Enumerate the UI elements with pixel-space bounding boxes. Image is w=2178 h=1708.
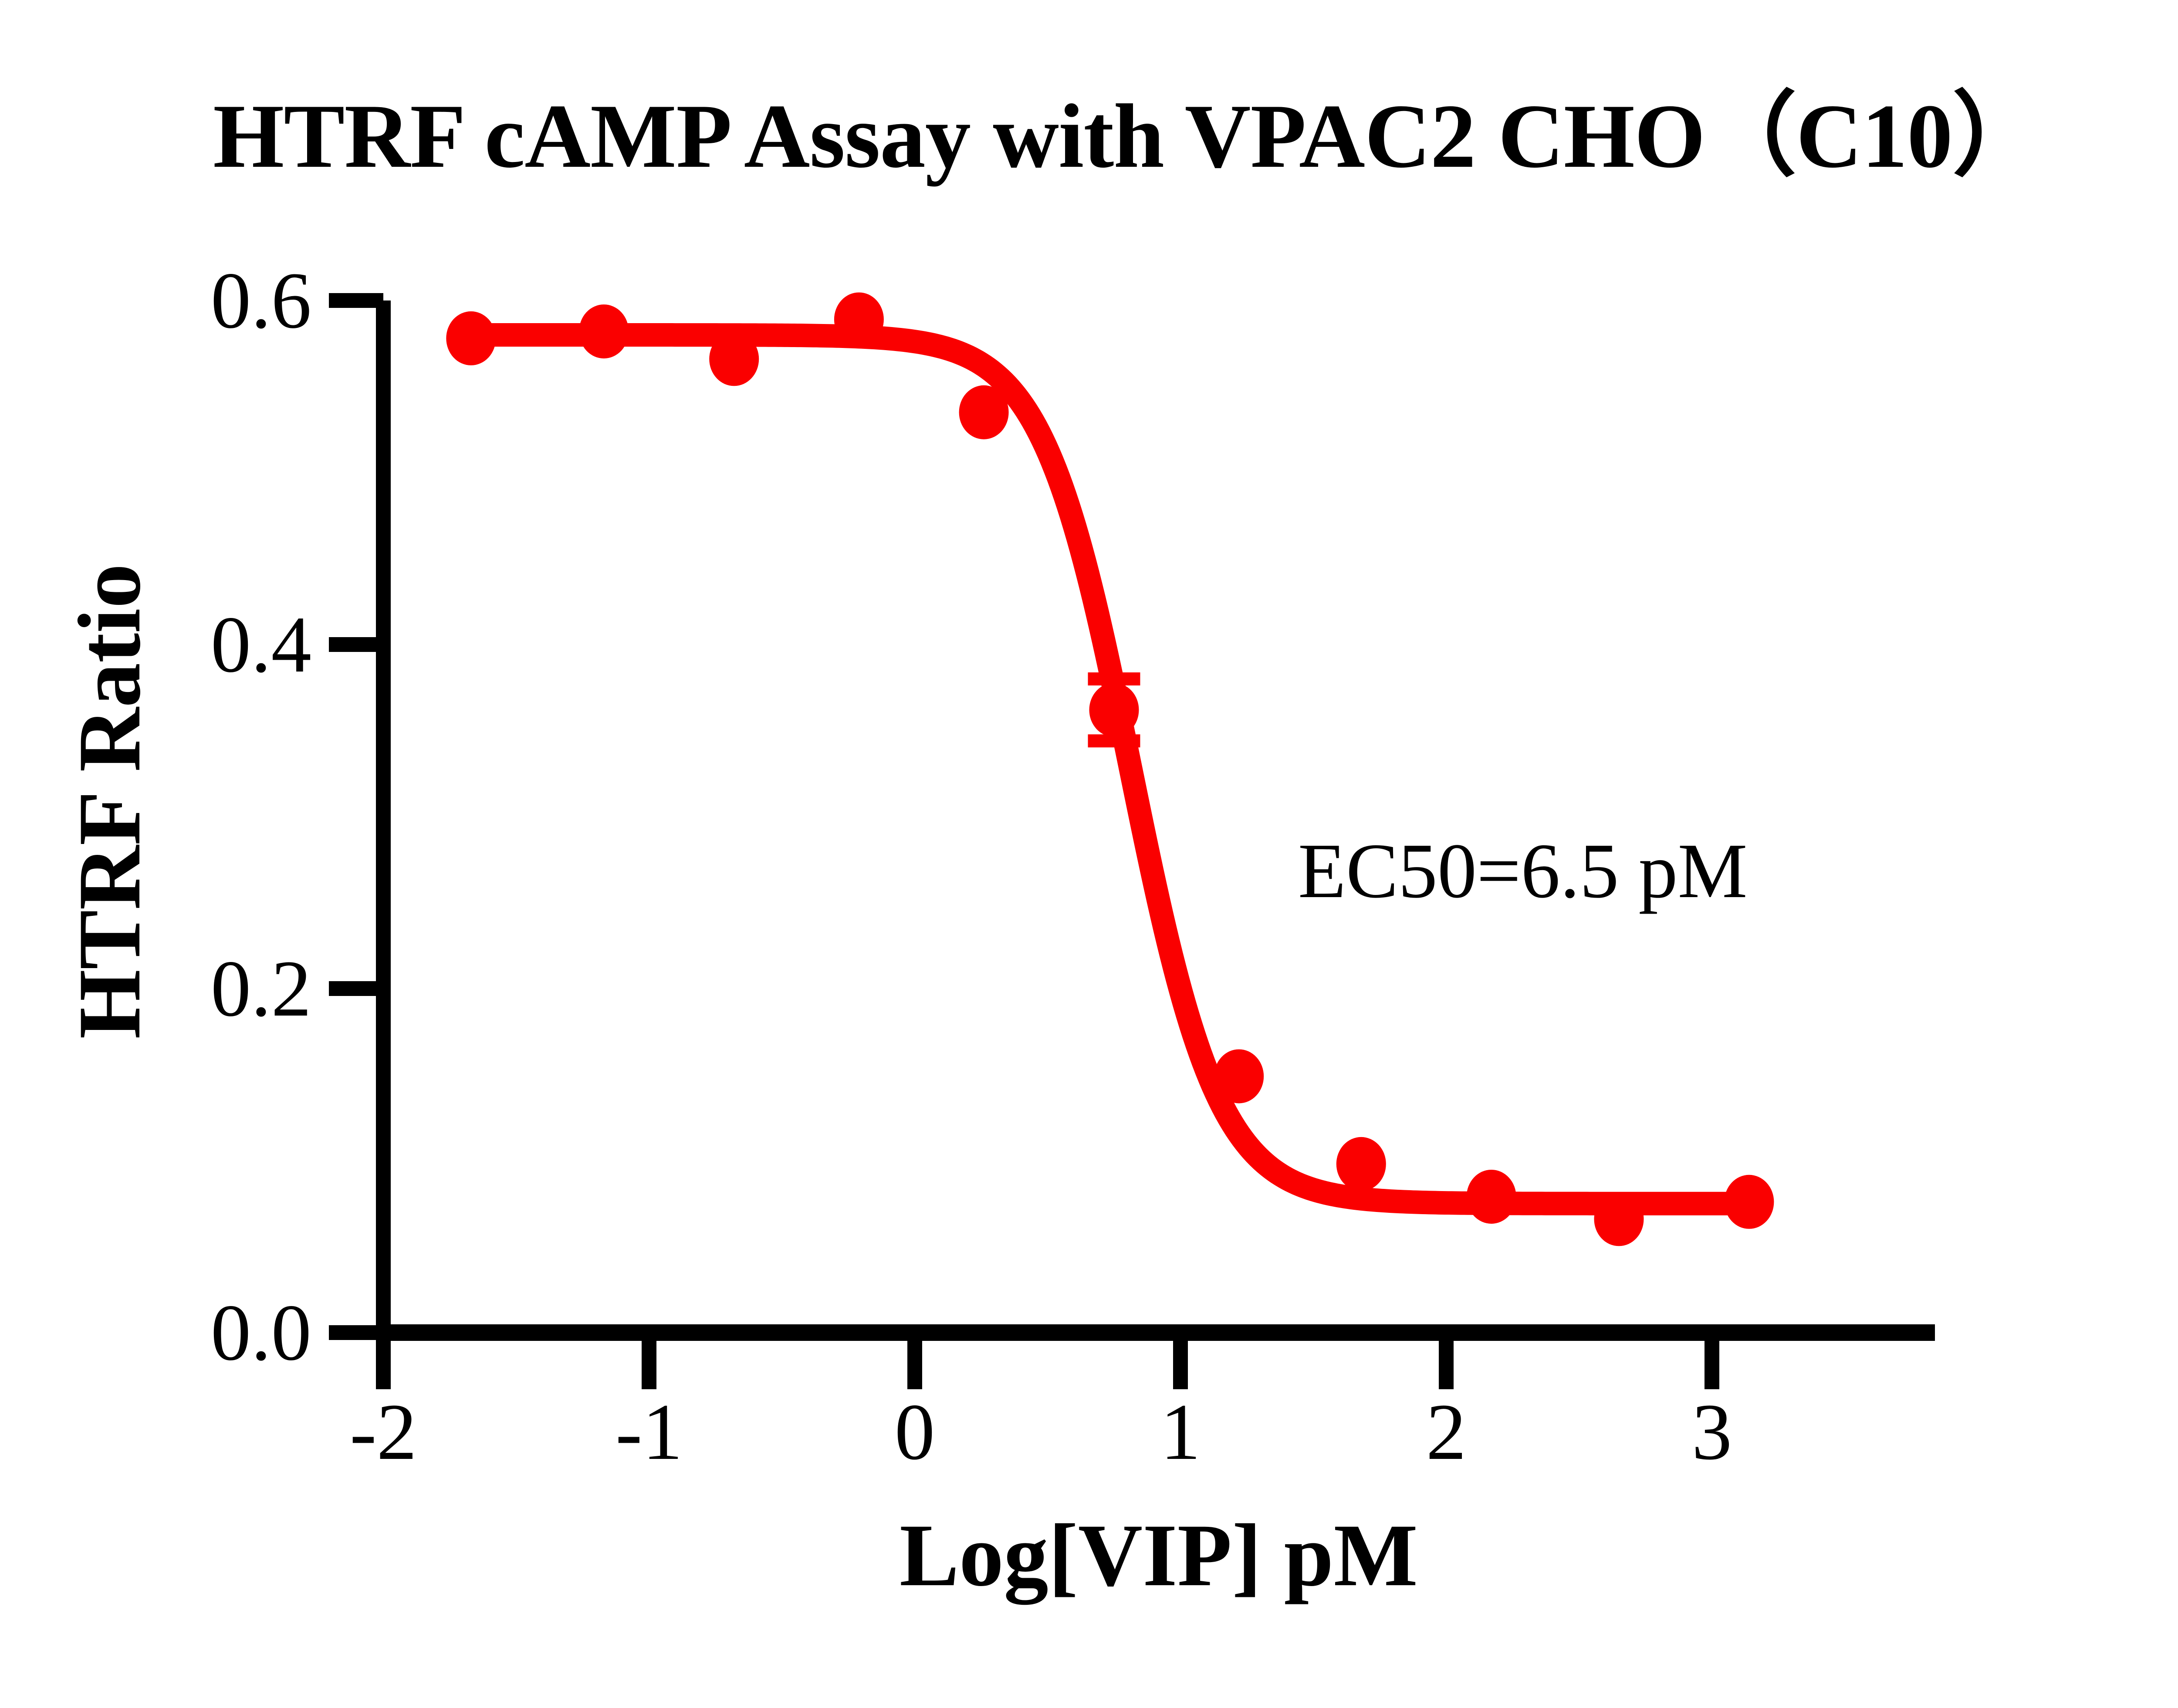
x-tick-label-4: 2 bbox=[1426, 1387, 1467, 1477]
data-point-4 bbox=[959, 385, 1009, 439]
data-point-3 bbox=[834, 292, 884, 346]
fit-curve bbox=[466, 335, 1755, 1204]
data-point-1 bbox=[579, 304, 629, 358]
figure-container: HTRF cAMP Assay with VPAC2 CHO（C10） 0.00… bbox=[0, 0, 2178, 1708]
y-axis-ticks bbox=[329, 300, 383, 1333]
data-point-0 bbox=[446, 311, 496, 365]
y-axis-tick-labels: 0.00.20.40.6 bbox=[211, 256, 311, 1377]
plot-area: 0.00.20.40.6 -2-10123 HTRF Ratio Log[VIP… bbox=[0, 0, 2178, 1708]
y-tick-label-0: 0.0 bbox=[211, 1288, 311, 1377]
y-tick-label-3: 0.6 bbox=[211, 256, 311, 345]
data-point-5 bbox=[1089, 683, 1139, 737]
x-axis-tick-labels: -2-10123 bbox=[350, 1387, 1732, 1477]
data-point-10 bbox=[1724, 1175, 1774, 1229]
y-tick-label-2: 0.4 bbox=[211, 600, 311, 689]
y-tick-label-1: 0.2 bbox=[211, 944, 311, 1033]
data-point-2 bbox=[709, 332, 759, 386]
x-axis-ticks bbox=[383, 1333, 1712, 1389]
x-tick-label-5: 3 bbox=[1692, 1387, 1732, 1477]
data-point-7 bbox=[1336, 1137, 1386, 1191]
x-tick-label-3: 1 bbox=[1160, 1387, 1201, 1477]
data-points bbox=[446, 292, 1774, 1246]
data-point-6 bbox=[1214, 1049, 1264, 1103]
ec50-label: EC50=6.5 pM bbox=[1298, 827, 1748, 914]
y-axis-title: HTRF Ratio bbox=[60, 564, 159, 1039]
data-point-9 bbox=[1594, 1192, 1644, 1246]
x-tick-label-1: -1 bbox=[616, 1387, 683, 1477]
x-tick-label-2: 0 bbox=[895, 1387, 935, 1477]
x-tick-label-0: -2 bbox=[350, 1387, 417, 1477]
x-axis-title: Log[VIP] pM bbox=[900, 1506, 1418, 1605]
data-point-8 bbox=[1467, 1170, 1516, 1224]
